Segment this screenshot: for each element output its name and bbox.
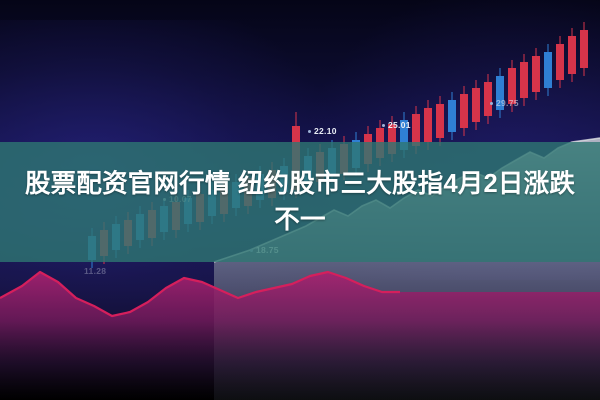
tag-dot-icon: [490, 102, 493, 105]
tag-dot-icon: [308, 130, 311, 133]
banner-canvas: 10.07 22.10 25.01 18.75 29.75 11.28 股票配资…: [0, 0, 600, 400]
price-tag-2975: 29.75: [490, 98, 519, 108]
page-title: 股票配资官网行情 纽约股市三大股指4月2日涨跌不一: [20, 166, 580, 238]
tag-dot-icon: [382, 124, 385, 127]
crimson-area-fill: [0, 272, 600, 400]
headline-band: 股票配资官网行情 纽约股市三大股指4月2日涨跌不一: [0, 142, 600, 262]
price-tag-2210: 22.10: [308, 126, 337, 136]
price-tag-value: 25.01: [388, 120, 411, 130]
price-tag-2501: 25.01: [382, 120, 411, 130]
price-tag-1128: 11.28: [84, 266, 106, 276]
price-tag-value: 29.75: [496, 98, 519, 108]
price-tag-value: 11.28: [84, 266, 106, 276]
price-tag-value: 22.10: [314, 126, 337, 136]
